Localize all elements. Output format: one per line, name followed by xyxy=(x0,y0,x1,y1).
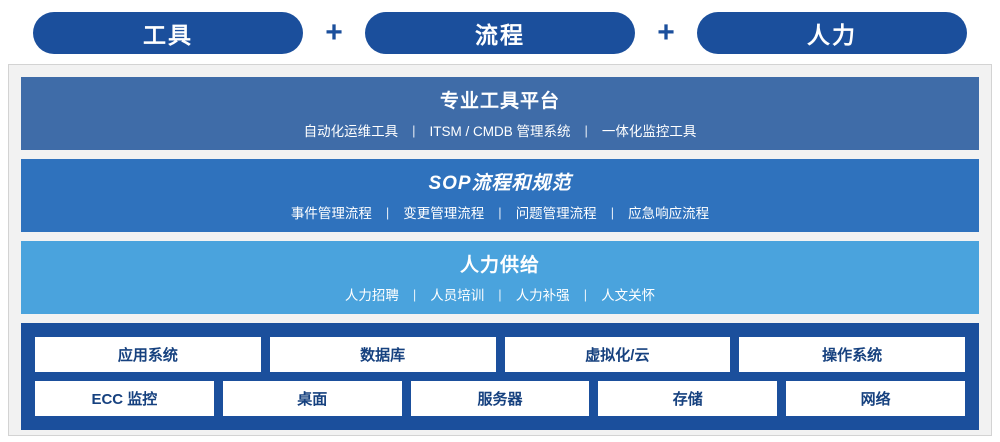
pill-process-label: 流程 xyxy=(475,16,525,50)
band-professional-tools-title: 专业工具平台 xyxy=(21,86,979,113)
band-item: 人员培训 xyxy=(416,284,498,304)
pill-tools-label: 工具 xyxy=(143,16,193,50)
cell-desktop: 桌面 xyxy=(223,381,402,416)
band-item: 问题管理流程 xyxy=(502,202,611,222)
diagram-root: 工具 + 流程 + 人力 专业工具平台 自动化运维工具 | ITSM / CMD… xyxy=(0,0,1000,442)
cell-virtualization-cloud: 虚拟化/云 xyxy=(505,337,731,372)
band-item: 变更管理流程 xyxy=(389,202,498,222)
pill-process: 流程 xyxy=(365,12,635,54)
band-item: 人文关怀 xyxy=(587,284,669,304)
band-item: 一体化监控工具 xyxy=(588,120,711,140)
plus-sign-2: + xyxy=(635,18,697,48)
band-manpower-supply: 人力供给 人力招聘 | 人员培训 | 人力补强 | 人文关怀 xyxy=(21,241,979,314)
band-item: 自动化运维工具 xyxy=(290,120,413,140)
band-sop-process: SOP流程和规范 事件管理流程 | 变更管理流程 | 问题管理流程 | 应急响应… xyxy=(21,159,979,232)
band-item: ITSM / CMDB 管理系统 xyxy=(416,120,585,140)
infrastructure-row-1: 应用系统 数据库 虚拟化/云 操作系统 xyxy=(35,337,965,372)
band-sop-process-items: 事件管理流程 | 变更管理流程 | 问题管理流程 | 应急响应流程 xyxy=(21,202,979,222)
pill-tools: 工具 xyxy=(33,12,303,54)
cell-application-system: 应用系统 xyxy=(35,337,261,372)
pill-manpower-label: 人力 xyxy=(807,16,857,50)
band-manpower-supply-title: 人力供给 xyxy=(21,250,979,277)
infrastructure-row-2: ECC 监控 桌面 服务器 存储 网络 xyxy=(35,381,965,416)
diagram-frame: 专业工具平台 自动化运维工具 | ITSM / CMDB 管理系统 | 一体化监… xyxy=(8,64,992,436)
band-item: 人力招聘 xyxy=(331,284,413,304)
band-sop-process-title: SOP流程和规范 xyxy=(21,168,979,195)
band-item: 应急响应流程 xyxy=(614,202,723,222)
plus-sign-1: + xyxy=(303,18,365,48)
band-item: 人力补强 xyxy=(502,284,584,304)
cell-database: 数据库 xyxy=(270,337,496,372)
cell-network: 网络 xyxy=(786,381,965,416)
band-manpower-supply-items: 人力招聘 | 人员培训 | 人力补强 | 人文关怀 xyxy=(21,284,979,304)
band-professional-tools-items: 自动化运维工具 | ITSM / CMDB 管理系统 | 一体化监控工具 xyxy=(21,120,979,140)
cell-ecc-monitoring: ECC 监控 xyxy=(35,381,214,416)
band-item: 事件管理流程 xyxy=(277,202,386,222)
top-pill-row: 工具 + 流程 + 人力 xyxy=(0,0,1000,64)
band-professional-tools: 专业工具平台 自动化运维工具 | ITSM / CMDB 管理系统 | 一体化监… xyxy=(21,77,979,150)
cell-storage: 存储 xyxy=(598,381,777,416)
cell-server: 服务器 xyxy=(411,381,590,416)
cell-operating-system: 操作系统 xyxy=(739,337,965,372)
pill-manpower: 人力 xyxy=(697,12,967,54)
infrastructure-box: 应用系统 数据库 虚拟化/云 操作系统 ECC 监控 桌面 服务器 存储 网络 xyxy=(21,323,979,430)
